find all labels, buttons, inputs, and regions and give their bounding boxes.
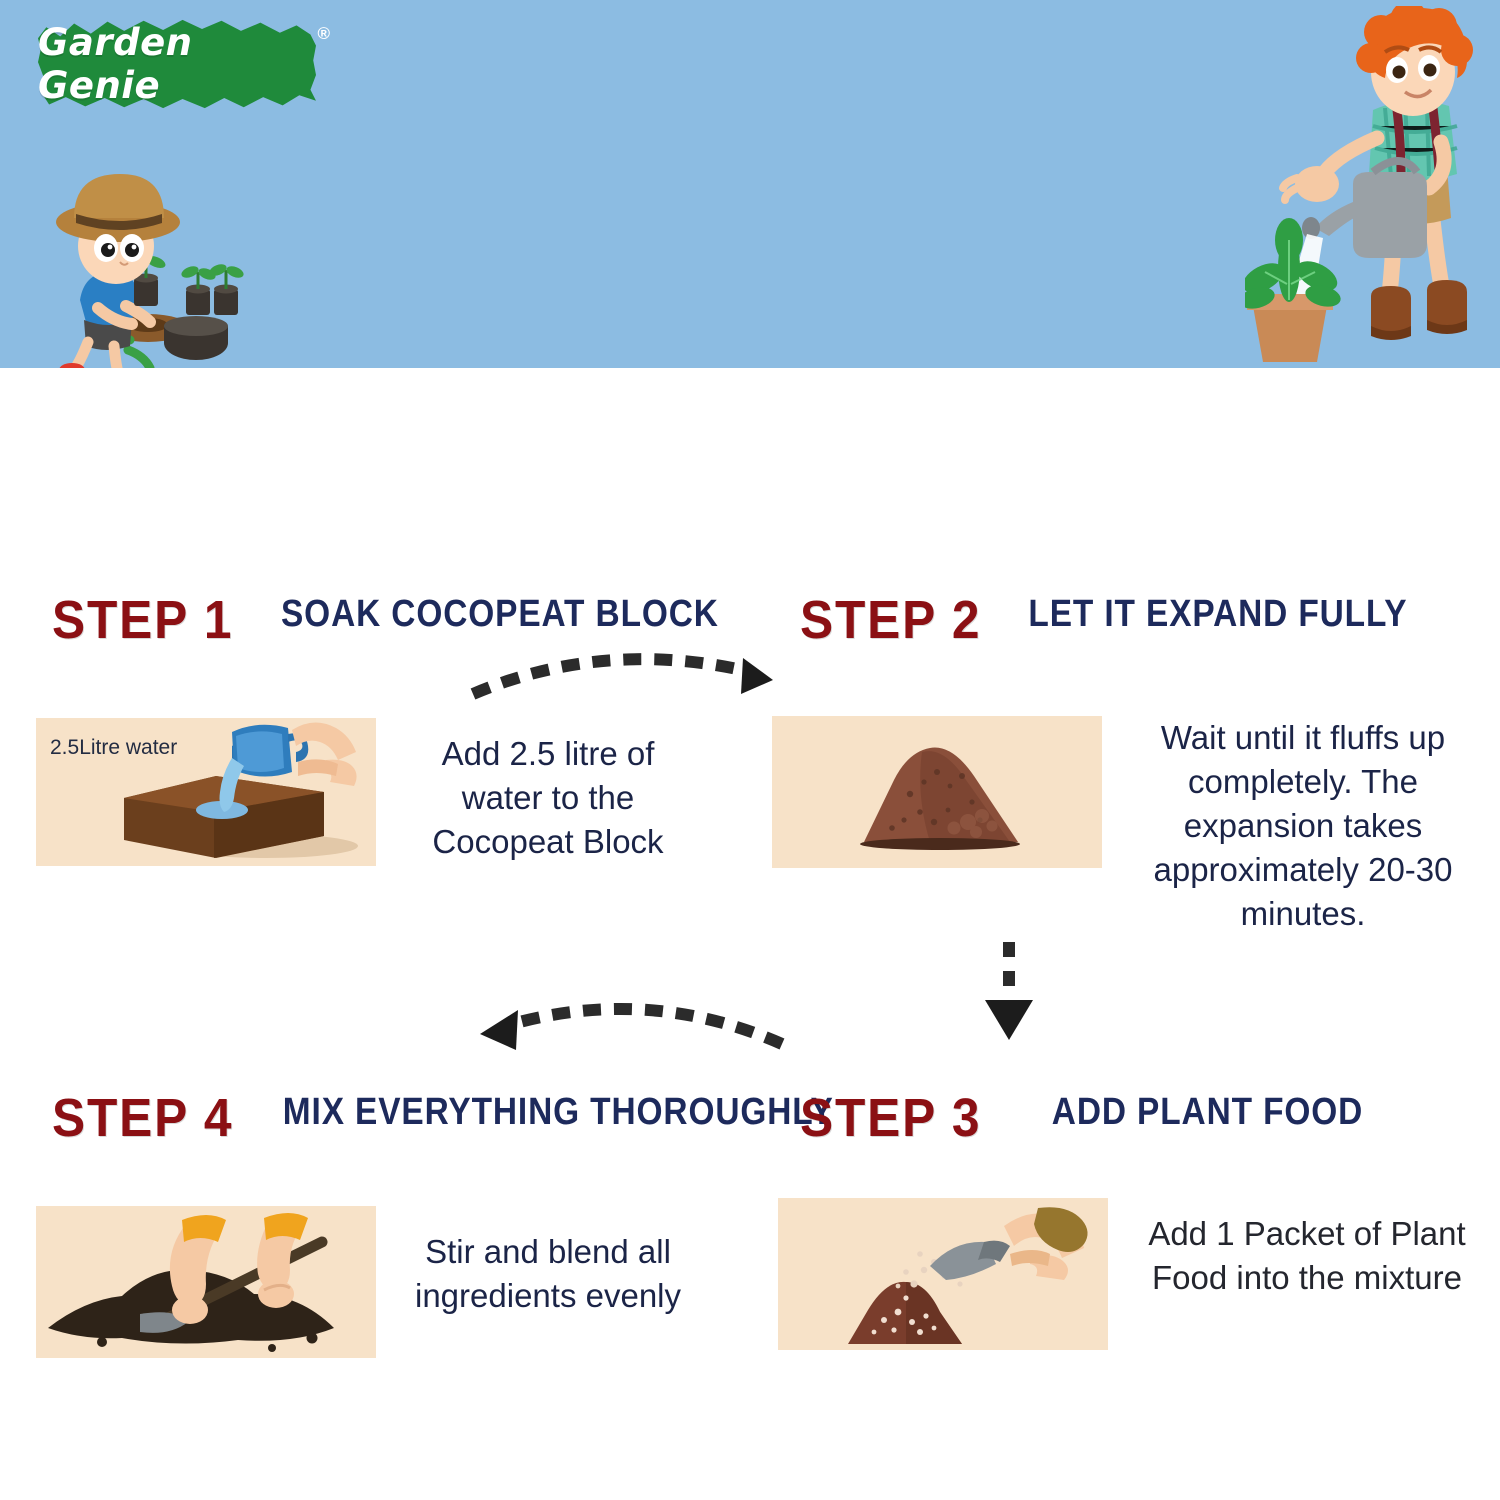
infographic-canvas: Garden Genie ® (0, 0, 1500, 1500)
step-2-number: STEP 2 (800, 592, 981, 648)
boy-watering-plant-illustration (1245, 6, 1500, 368)
step-2-description: Wait until it fluffs up completely. The … (1118, 716, 1488, 936)
step-4-description: Stir and blend all ingredients evenly (398, 1230, 698, 1318)
registered-trademark-icon: ® (317, 24, 330, 44)
step-1-body: 2.5Litre water Add 2.5 litre of water to… (36, 718, 736, 866)
step-3-number: STEP 3 (800, 1090, 981, 1146)
arrow-step1-to-step2 (455, 636, 795, 716)
step-1-description: Add 2.5 litre of water to the Cocopeat B… (398, 732, 698, 864)
step-3: STEP 3 ADD PLANT FOOD (800, 1090, 1440, 1146)
step-1-number: STEP 1 (52, 592, 233, 648)
brand-name: Garden Genie (38, 18, 316, 110)
arrow-step2-to-step3 (975, 938, 1045, 1048)
step-4-number: STEP 4 (52, 1090, 233, 1146)
step-3-body: Add 1 Packet of Plant Food into the mixt… (778, 1198, 1498, 1350)
trowel-adding-plant-food-image (778, 1198, 1108, 1350)
step-4-body: Stir and blend all ingredients evenly (36, 1206, 736, 1358)
boy-planting-seedlings-illustration (28, 150, 298, 368)
pouring-water-on-cocopeat-block-image: 2.5Litre water (36, 718, 376, 866)
expanded-cocopeat-mound-image (772, 716, 1102, 868)
step-3-title: ADD PLANT FOOD (1052, 1090, 1298, 1134)
arrow-step3-to-step4 (460, 992, 800, 1074)
step-3-description: Add 1 Packet of Plant Food into the mixt… (1132, 1212, 1482, 1300)
hands-mixing-soil-image (36, 1206, 376, 1358)
step-2-body: Wait until it fluffs up completely. The … (772, 716, 1492, 936)
step-2-title: LET IT EXPAND FULLY (1029, 592, 1284, 636)
brand-logo: Garden Genie ® (38, 18, 316, 110)
step-1-title: SOAK COCOPEAT BLOCK (281, 592, 545, 636)
step-4-title: MIX EVERYTHING THOROUGHLY (283, 1090, 573, 1134)
step-4: STEP 4 MIX EVERYTHING THOROUGHLY (52, 1090, 752, 1146)
header-banner: Garden Genie ® (0, 0, 1500, 368)
step-2: STEP 2 LET IT EXPAND FULLY (800, 592, 1440, 648)
